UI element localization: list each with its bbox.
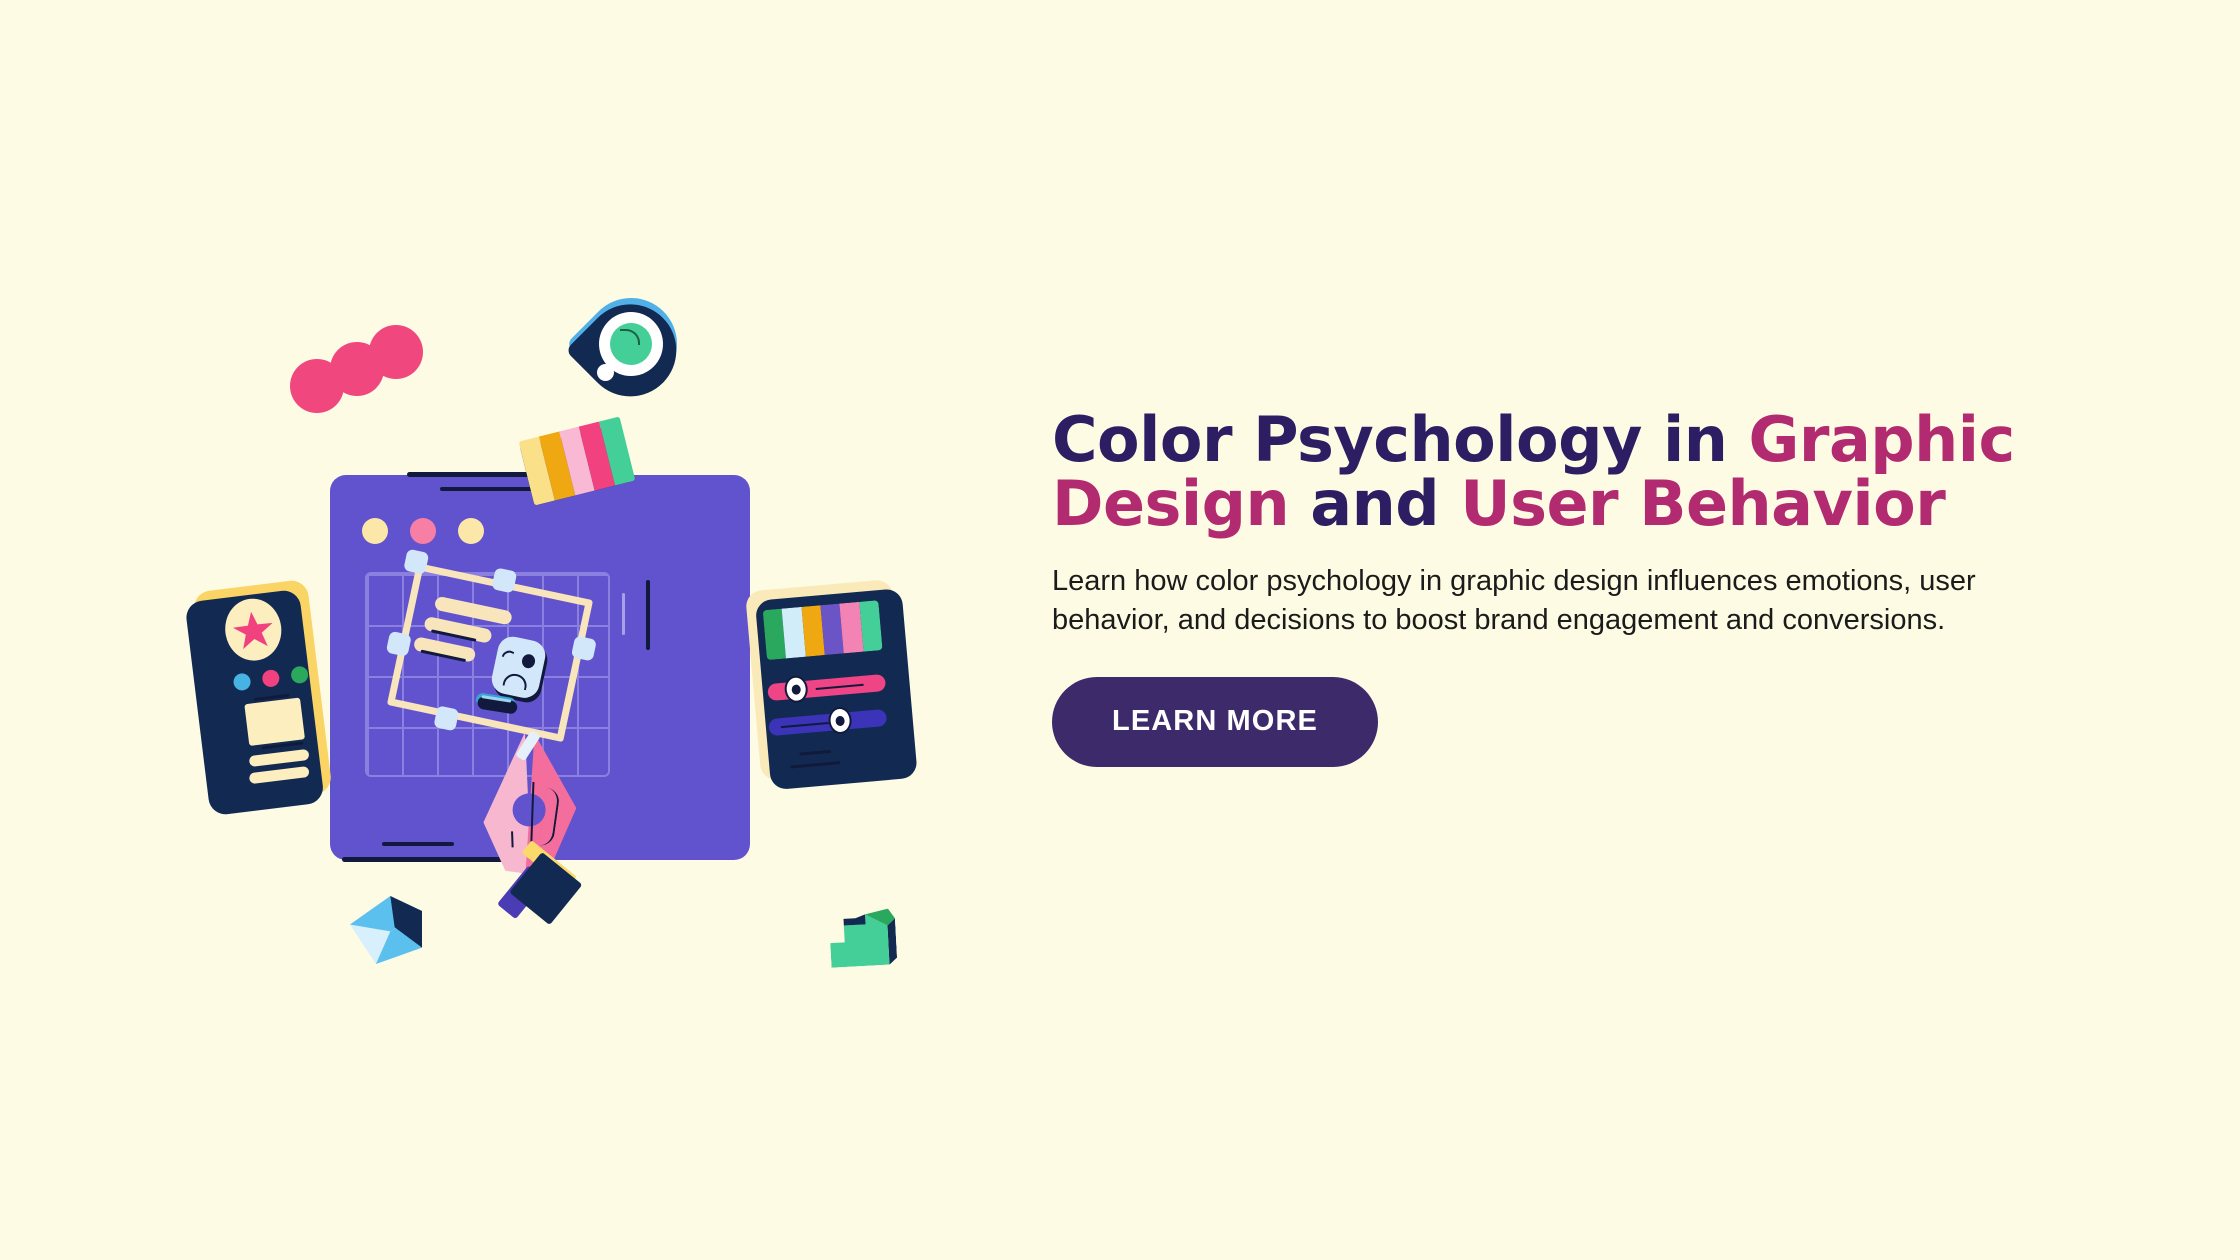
slider-knob[interactable] <box>827 706 852 735</box>
hero-banner: Color Psychology in Graphic Design and U… <box>0 0 2240 1260</box>
color-dot-blue-icon <box>233 672 252 691</box>
hero-subtitle: Learn how color psychology in graphic de… <box>1052 562 1992 641</box>
learn-more-button[interactable]: LEARN MORE <box>1052 677 1378 767</box>
pink-dot-icon <box>369 325 423 379</box>
slider-blue[interactable] <box>768 709 887 736</box>
profile-phone-card <box>192 579 332 806</box>
color-palette-strip <box>763 600 883 660</box>
decorative-line <box>646 580 650 650</box>
green-stairs-shape <box>829 908 898 967</box>
color-dot-pink-icon <box>261 669 280 688</box>
placeholder-text-bar <box>249 766 310 784</box>
frown-shape <box>502 672 528 691</box>
headline-segment-3: and <box>1310 467 1439 540</box>
content-box <box>244 697 305 746</box>
headline-segment-5: Behavior <box>1639 467 1945 540</box>
loupe-lens <box>610 323 652 365</box>
color-settings-panel <box>745 579 908 781</box>
decorative-line <box>790 761 840 768</box>
eyebrow-shape <box>502 648 515 660</box>
pen-nib-tool-icon <box>474 728 605 902</box>
slider-track-line <box>781 722 829 728</box>
window-traffic-lights <box>362 518 484 544</box>
window-dot-yellow-icon <box>362 518 388 544</box>
color-dot-green-icon <box>290 665 309 684</box>
decorative-line <box>382 842 454 846</box>
pink-dots-cluster <box>290 325 430 415</box>
slider-track-line <box>816 684 864 690</box>
slider-pink[interactable] <box>767 674 886 701</box>
design-workspace-illustration <box>230 280 1020 1020</box>
slider-knob[interactable] <box>784 675 809 704</box>
loupe-bead <box>597 364 614 381</box>
decorative-line <box>799 750 831 756</box>
headline-segment-1: Color Psychology in <box>1052 403 1727 476</box>
color-dot-row <box>233 665 310 691</box>
headline-segment-4: User <box>1460 467 1618 540</box>
decorative-line <box>622 593 625 635</box>
window-dot-yellow-2-icon <box>458 518 484 544</box>
page-title: Color Psychology in Graphic Design and U… <box>1052 408 2032 536</box>
hero-content: Color Psychology in Graphic Design and U… <box>1052 408 2032 767</box>
placeholder-text-bar <box>249 749 310 767</box>
blue-diamond-shape <box>350 896 422 964</box>
window-dot-pink-icon <box>410 518 436 544</box>
magnifier-loupe-icon <box>585 298 677 390</box>
palette-swatch <box>859 600 883 651</box>
eye-shape <box>521 653 537 669</box>
